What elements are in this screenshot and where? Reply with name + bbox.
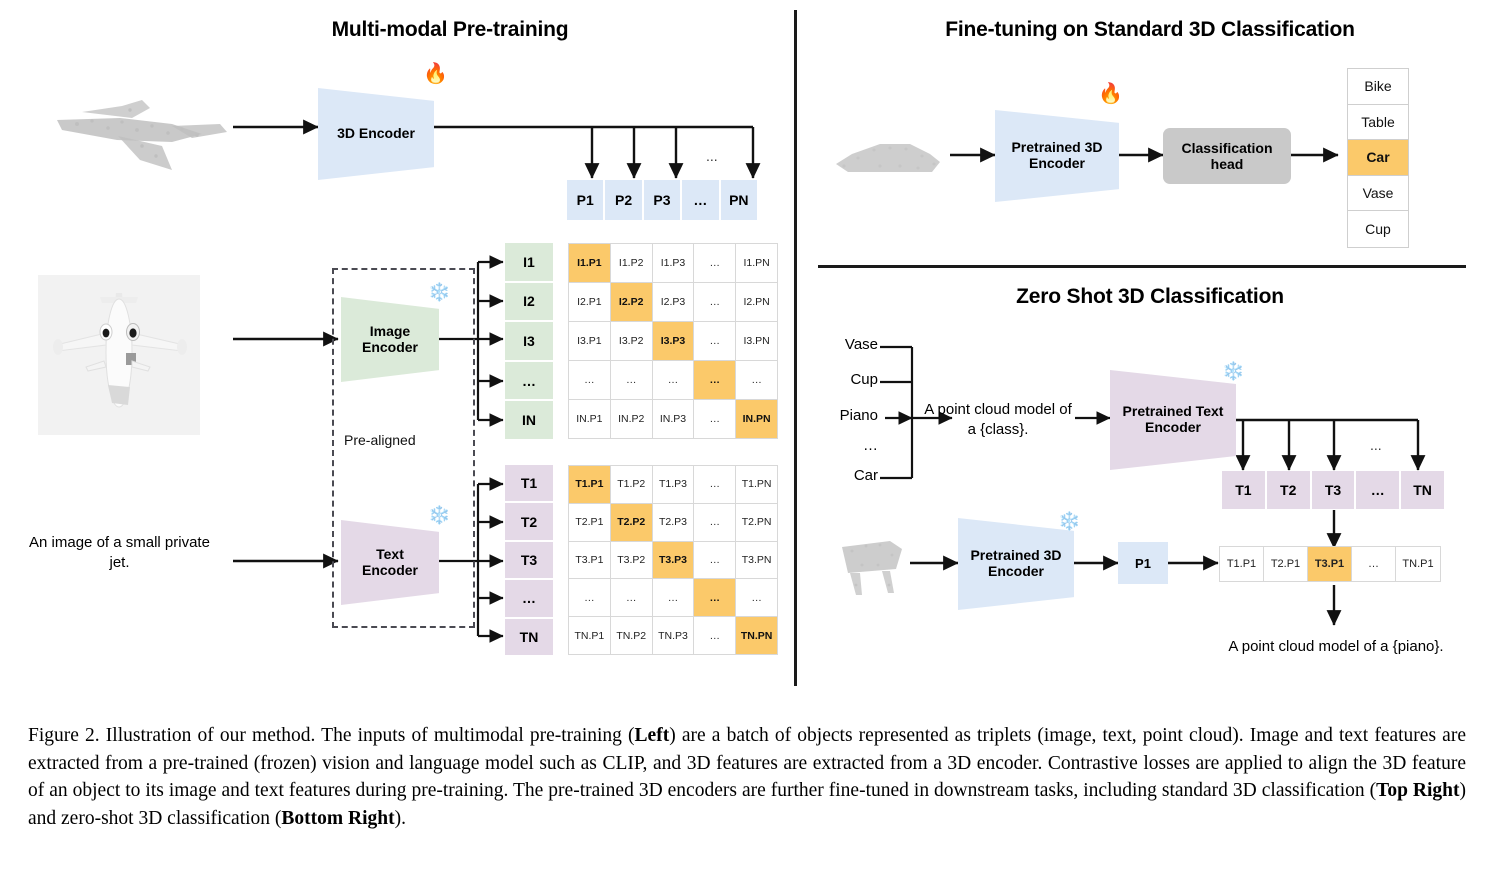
pretrained-text-encoder-line2: Encoder xyxy=(1123,420,1224,436)
pretrained-3d-encoder-zeroshot[interactable]: Pretrained 3D Encoder xyxy=(958,518,1074,610)
matrix-cell-diagonal: TN.PN xyxy=(736,617,777,654)
matrix-cell-diagonal: T1.P1 xyxy=(569,466,610,503)
feature-cell: … xyxy=(1356,471,1399,509)
feature-cell: T1 xyxy=(1222,471,1265,509)
point-feature-strip: P1P2P3…PN xyxy=(567,180,757,220)
matrix-cell: … xyxy=(653,579,694,616)
zeroshot-class-word: Cup xyxy=(820,371,878,388)
classification-head[interactable]: Classification head xyxy=(1163,128,1291,184)
class-item[interactable]: Vase xyxy=(1348,176,1408,212)
feature-cell: P3 xyxy=(644,180,680,220)
matrix-cell: … xyxy=(569,579,610,616)
matrix-cell: TN.P3 xyxy=(653,617,694,654)
zeroshot-class-word: Piano xyxy=(820,407,878,424)
feature-cell: P1 xyxy=(567,180,603,220)
label-cell: I3 xyxy=(505,322,553,360)
pretrained-3d-encoder-zeroshot-label: Pretrained 3D Encoder xyxy=(970,548,1061,579)
label-cell: T2 xyxy=(505,503,553,539)
feature-cell: P2 xyxy=(605,180,641,220)
matrix-cell: T2.P3 xyxy=(653,504,694,541)
classification-head-label: Classification head xyxy=(1181,140,1272,172)
piano-point-cloud xyxy=(832,525,914,603)
label-cell: I2 xyxy=(505,283,553,321)
encoder-image-label-line1: Image xyxy=(362,324,418,340)
matrix-cell: … xyxy=(694,400,735,438)
pre-aligned-label: Pre-aligned xyxy=(344,432,416,448)
caption-part-4: ). xyxy=(395,808,406,829)
matrix-cell: … xyxy=(611,361,652,399)
label-cell: … xyxy=(505,580,553,616)
matrix-cell: … xyxy=(694,322,735,360)
text-feature-strip: T1T2T3…TN xyxy=(1222,471,1444,509)
matrix-cell: … xyxy=(694,283,735,321)
matrix-cell: I3.PN xyxy=(736,322,777,360)
left-panel-title: Multi-modal Pre-training xyxy=(260,18,640,42)
text-input-caption: An image of a small private jet. xyxy=(22,533,217,574)
matrix-cell: … xyxy=(653,361,694,399)
matrix-cell: … xyxy=(694,617,735,654)
feature-cell: … xyxy=(682,180,718,220)
label-cell: IN xyxy=(505,401,553,439)
figure-caption: Figure 2. Illustration of our method. Th… xyxy=(28,722,1466,833)
matrix-cell: T1.P3 xyxy=(653,466,694,503)
encoder-image[interactable]: Image Encoder xyxy=(341,297,439,382)
matrix-cell-diagonal: T3.P3 xyxy=(653,542,694,579)
matrix-cell-diagonal: I2.P2 xyxy=(611,283,652,321)
class-item[interactable]: Cup xyxy=(1348,211,1408,247)
feature-cell: TN xyxy=(1401,471,1444,509)
zeroshot-class-word: Car xyxy=(820,467,878,484)
text-input-value: An image of a small private jet. xyxy=(29,534,210,571)
class-item[interactable]: Bike xyxy=(1348,69,1408,105)
matrix-cell: … xyxy=(736,361,777,399)
snowflake-icon: ❄️ xyxy=(428,506,450,524)
pretrained-3d-encoder-finetune[interactable]: Pretrained 3D Encoder xyxy=(995,110,1119,202)
text-label-column: T1T2T3…TN xyxy=(505,465,553,655)
label-cell: … xyxy=(505,362,553,400)
pretrained-3d-encoder-finetune-line1: Pretrained 3D xyxy=(1011,140,1102,156)
matrix-cell: I3.P1 xyxy=(569,322,610,360)
matrix-cell: I2.PN xyxy=(736,283,777,321)
matrix-cell: I3.P2 xyxy=(611,322,652,360)
point-feature-p1: P1 xyxy=(1118,542,1168,584)
snowflake-icon: ❄️ xyxy=(1222,362,1244,380)
classification-head-line2: head xyxy=(1181,156,1272,172)
matrix-cell: I1.P3 xyxy=(653,244,694,282)
matrix-cell: T1.PN xyxy=(736,466,777,503)
matrix-cell: … xyxy=(611,579,652,616)
matrix-cell: T2.PN xyxy=(736,504,777,541)
caption-part-1: Figure 2. Illustration of our method. Th… xyxy=(28,725,635,746)
text-point-similarity-matrix: T1.P1T1.P2T1.P3…T1.PNT2.P1T2.P2T2.P3…T2.… xyxy=(568,465,778,655)
label-cell: TN xyxy=(505,619,553,655)
class-item[interactable]: Table xyxy=(1348,105,1408,141)
matrix-cell: IN.P1 xyxy=(569,400,610,438)
fire-icon: 🔥 xyxy=(423,64,448,84)
similarity-cell: … xyxy=(1352,547,1396,581)
matrix-cell: T1.P2 xyxy=(611,466,652,503)
pretrained-3d-encoder-zeroshot-line2: Encoder xyxy=(970,564,1061,580)
caption-bold-bottom-right: Bottom Right xyxy=(281,808,394,829)
bottom-right-panel-title: Zero Shot 3D Classification xyxy=(930,285,1370,309)
pretrained-3d-encoder-finetune-label: Pretrained 3D Encoder xyxy=(1011,140,1102,171)
matrix-cell: I1.PN xyxy=(736,244,777,282)
jet-image-thumbnail xyxy=(38,275,200,435)
prompt-line1: A point cloud model of xyxy=(918,400,1078,420)
zeroshot-similarity-row: T1.P1T2.P1T3.P1…TN.P1 xyxy=(1219,546,1441,582)
matrix-cell: T2.P1 xyxy=(569,504,610,541)
snowflake-icon: ❄️ xyxy=(428,283,450,301)
pretrained-3d-encoder-finetune-line2: Encoder xyxy=(1011,156,1102,172)
class-item-selected[interactable]: Car xyxy=(1348,140,1408,176)
encoder-text-label-line1: Text xyxy=(362,547,418,563)
matrix-cell: T3.P2 xyxy=(611,542,652,579)
matrix-cell: … xyxy=(569,361,610,399)
feature-cell: PN xyxy=(721,180,757,220)
feature-cell: T3 xyxy=(1312,471,1355,509)
zeroshot-bus-ellipsis: ... xyxy=(1370,437,1382,453)
snowflake-icon: ❄️ xyxy=(1058,512,1080,530)
feature-cell: T2 xyxy=(1267,471,1310,509)
image-point-similarity-matrix: I1.P1I1.P2I1.P3…I1.PNI2.P1I2.P2I2.P3…I2.… xyxy=(568,243,778,439)
matrix-cell-diagonal: I3.P3 xyxy=(653,322,694,360)
pretrained-text-encoder-label: Pretrained Text Encoder xyxy=(1123,404,1224,435)
matrix-cell-diagonal: T2.P2 xyxy=(611,504,652,541)
encoder-image-label: Image Encoder xyxy=(362,324,418,355)
similarity-cell: T1.P1 xyxy=(1220,547,1264,581)
point-bus-ellipsis: ... xyxy=(706,148,718,164)
top-right-panel-title: Fine-tuning on Standard 3D Classificatio… xyxy=(880,18,1420,42)
matrix-cell-diagonal: … xyxy=(694,579,735,616)
matrix-cell: I2.P3 xyxy=(653,283,694,321)
classification-result-list[interactable]: BikeTableCarVaseCup xyxy=(1347,68,1409,248)
encoder-text-label: Text Encoder xyxy=(362,547,418,578)
pretrained-text-encoder-line1: Pretrained Text xyxy=(1123,404,1224,420)
matrix-cell-diagonal: IN.PN xyxy=(736,400,777,438)
matrix-cell: TN.P1 xyxy=(569,617,610,654)
prompt-template: A point cloud model of a {class}. xyxy=(918,400,1078,441)
label-cell: T3 xyxy=(505,542,553,578)
similarity-cell-best: T3.P1 xyxy=(1308,547,1352,581)
matrix-cell: I2.P1 xyxy=(569,283,610,321)
caption-bold-top-right: Top Right xyxy=(1376,780,1459,801)
zeroshot-result-text: A point cloud model of a {piano}. xyxy=(1196,638,1476,655)
zeroshot-class-word: Vase xyxy=(820,336,878,353)
matrix-cell: … xyxy=(694,542,735,579)
caption-bold-left: Left xyxy=(635,725,670,746)
encoder-text-label-line2: Encoder xyxy=(362,563,418,579)
image-label-column: I1I2I3…IN xyxy=(505,243,553,439)
vertical-divider xyxy=(794,10,797,686)
matrix-cell: T3.P1 xyxy=(569,542,610,579)
matrix-cell: T3.PN xyxy=(736,542,777,579)
prompt-line2: a {class}. xyxy=(918,420,1078,440)
encoder-3d-label: 3D Encoder xyxy=(337,126,415,142)
matrix-cell: … xyxy=(694,244,735,282)
car-point-cloud xyxy=(828,128,948,188)
similarity-cell: TN.P1 xyxy=(1396,547,1440,581)
label-cell: I1 xyxy=(505,243,553,281)
encoder-text[interactable]: Text Encoder xyxy=(341,520,439,605)
pretrained-text-encoder[interactable]: Pretrained Text Encoder xyxy=(1110,370,1236,470)
label-cell: T1 xyxy=(505,465,553,501)
matrix-cell: IN.P2 xyxy=(611,400,652,438)
classification-head-line1: Classification xyxy=(1181,140,1272,156)
horizontal-divider xyxy=(818,265,1466,268)
airplane-point-cloud xyxy=(22,50,237,210)
matrix-cell: … xyxy=(694,504,735,541)
matrix-cell: … xyxy=(736,579,777,616)
matrix-cell: I1.P2 xyxy=(611,244,652,282)
encoder-image-label-line2: Encoder xyxy=(362,340,418,356)
zeroshot-class-word: … xyxy=(820,437,878,454)
matrix-cell: … xyxy=(694,466,735,503)
fire-icon: 🔥 xyxy=(1098,84,1123,104)
matrix-cell: TN.P2 xyxy=(611,617,652,654)
pretrained-3d-encoder-zeroshot-line1: Pretrained 3D xyxy=(970,548,1061,564)
matrix-cell: IN.P3 xyxy=(653,400,694,438)
matrix-cell-diagonal: I1.P1 xyxy=(569,244,610,282)
encoder-3d[interactable]: 3D Encoder xyxy=(318,88,434,180)
matrix-cell-diagonal: … xyxy=(694,361,735,399)
similarity-cell: T2.P1 xyxy=(1264,547,1308,581)
